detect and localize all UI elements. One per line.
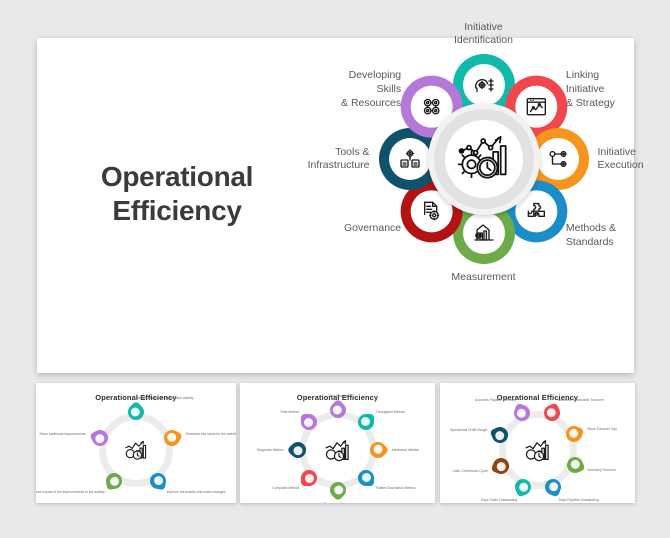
- thumbnail-center-icon: [319, 431, 357, 469]
- radial-diagram: Initiative IdentificationLinking Initiat…: [337, 38, 634, 373]
- petal-label-1: Initiative Identification: [414, 21, 554, 49]
- performance-gear-clock-chart-icon: [457, 131, 511, 186]
- node-icon: [361, 417, 370, 426]
- head-gears-icon: [463, 64, 505, 106]
- node-icon: [166, 432, 178, 444]
- node-icon: [109, 476, 119, 486]
- thumbnail-node-label: Throughput Metrics: [376, 410, 405, 414]
- thumbnail-node-label: Accounts Payable Turnover: [475, 398, 516, 402]
- node-icon: [517, 481, 529, 493]
- node-icon: [547, 481, 559, 493]
- thumbnail-node-label: Improve the activity and make changes.: [167, 490, 227, 494]
- thumbnail-node-label: Days Payable Outstanding: [559, 497, 599, 501]
- petal-label-3: Initiative Execution: [598, 146, 644, 174]
- thumbnail-node-label: Procedure Metrics: [324, 502, 352, 503]
- node-icon: [130, 406, 143, 419]
- node-icon: [547, 407, 559, 419]
- node-icon: [568, 429, 580, 441]
- petal-label-4: Methods & Standards: [566, 222, 616, 250]
- thumbnail-node-label: Cash Conversion Cycle: [452, 469, 487, 473]
- node-icon: [305, 417, 314, 426]
- thumbnail-node-label: Stock Turnover Day: [587, 427, 617, 431]
- page-title: Operational Efficiency: [57, 160, 297, 228]
- thumbnail-node-label: Operational Profit Margin: [450, 428, 488, 432]
- thumbnail-node-label: Identify key outcomes for each activity.: [136, 396, 194, 400]
- node-icon: [569, 459, 581, 471]
- thumbnail-node-label: Time Metrics: [280, 410, 299, 414]
- petal-label-7: Tools & Infrastructure: [308, 146, 370, 174]
- petal-wheel: [385, 60, 582, 257]
- petal-label-8: Developing Skills & Resources: [337, 69, 401, 111]
- node-icon: [371, 444, 384, 457]
- thumbnail-node[interactable]: [358, 414, 374, 430]
- node-icon: [291, 444, 304, 457]
- thumbnail-center-icon: [119, 433, 153, 467]
- node-icon: [361, 474, 370, 483]
- thumbnail-slide-2[interactable]: Operational Efficiency Time MetricsThrou…: [240, 383, 435, 503]
- thumbnail-node-label: Admission Metrics: [392, 448, 420, 452]
- thumbnail-slide-3[interactable]: Operational Efficiency Accounts Receivab…: [440, 383, 635, 503]
- thumbnail-stage: Time MetricsThroughput MetricsAdmission …: [240, 401, 435, 497]
- title-line-1: Operational: [57, 160, 297, 194]
- petal-label-5: Measurement: [414, 271, 554, 285]
- thumbnail-node-label: Diagnosis Metrics: [257, 448, 284, 452]
- node-icon: [153, 476, 163, 486]
- thumbnail-center-icon: [519, 431, 557, 469]
- thumbnail-node[interactable]: [301, 414, 317, 430]
- thumbnail-node-label: Complaint Metrics: [272, 486, 299, 490]
- server-gear-icon: [389, 138, 431, 180]
- thumbnail-stage: Identify key outcomes for each activity.…: [36, 401, 236, 497]
- thumbnail-node-label: Inventory Turnover: [588, 468, 616, 472]
- thumbnail-node[interactable]: [149, 472, 167, 490]
- thumbnail-node-label: Time Metrics: [328, 394, 347, 398]
- title-line-2: Efficiency: [57, 194, 297, 228]
- thumbnail-node-label: Accounts Receivable Turnover: [558, 398, 604, 402]
- thumbnail-node-label: Patient Disposition Metrics: [376, 486, 416, 490]
- thumbnail-node-label: Days Sales Outstanding: [481, 498, 517, 502]
- thumbnail-node-label: Show additional improvements.: [39, 432, 86, 436]
- bar-chart-gear-icon: [463, 212, 505, 254]
- node-icon: [495, 429, 507, 441]
- main-slide: Operational Efficiency: [37, 38, 634, 373]
- petal-label-6: Governance: [344, 222, 401, 236]
- thumbnail-node[interactable]: [301, 470, 317, 486]
- node-icon: [331, 404, 344, 417]
- node-icon: [305, 474, 314, 483]
- node-icon: [331, 484, 344, 497]
- node-icon: [495, 460, 507, 472]
- network-nodes-icon: [537, 138, 579, 180]
- thumbnail-stage: Accounts Receivable TurnoverStock Turnov…: [440, 401, 635, 497]
- thumbnail-node-label: Measure impact of the improvements to th…: [36, 490, 105, 494]
- thumbnail-node-label: Flowchart key steps for the activity.: [185, 432, 236, 436]
- node-icon: [516, 407, 528, 419]
- center-hub-icon-well: [445, 120, 523, 198]
- center-hub-ring: [434, 109, 534, 209]
- node-icon: [94, 432, 106, 444]
- center-hub: [428, 103, 540, 215]
- petal-label-2: Linking Initiative & Strategy: [566, 69, 634, 111]
- thumbnail-slide-1[interactable]: Operational Efficiency Identify key outc…: [36, 383, 236, 503]
- thumbnail-node[interactable]: [358, 470, 374, 486]
